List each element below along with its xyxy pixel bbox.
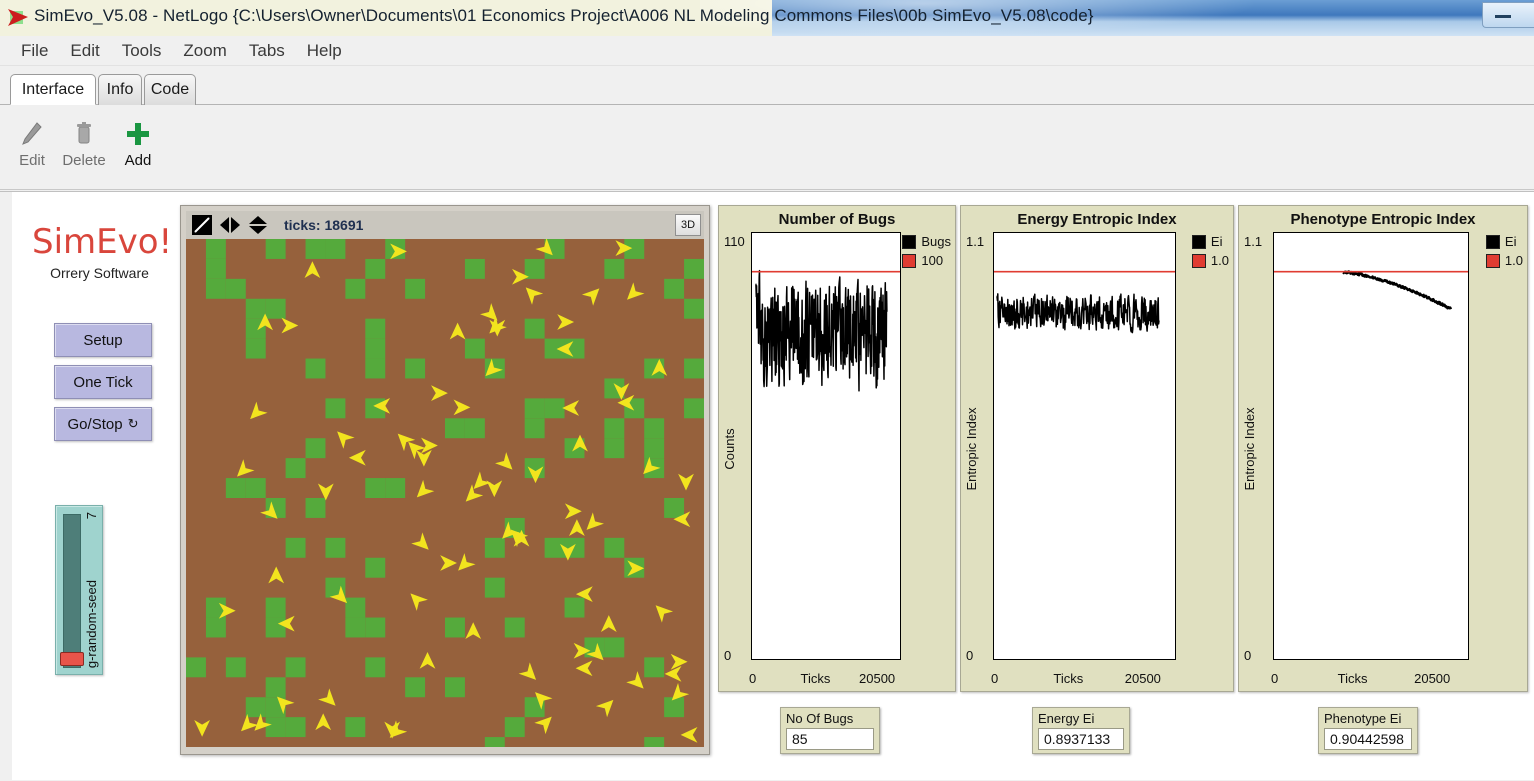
plot-x-min-label: 0: [1271, 671, 1278, 686]
edit-tool-label: Edit: [6, 152, 58, 169]
menu-file[interactable]: File: [10, 39, 59, 63]
monitor-energy-ei[interactable]: Energy Ei 0.8937133: [1032, 707, 1130, 754]
legend-label: Ei: [1505, 234, 1517, 249]
window-title: SimEvo_V5.08 - NetLogo {C:\Users\Owner\D…: [34, 6, 1094, 26]
legend-entry: Ei: [1486, 234, 1523, 249]
menu-tabs[interactable]: Tabs: [238, 39, 296, 63]
setup-button-label: Setup: [83, 332, 122, 349]
tab-info[interactable]: Info: [98, 74, 142, 105]
plot-y-min-label: 0: [1244, 648, 1251, 663]
plot-legend: Ei 1.0: [1192, 234, 1229, 272]
world-view-header: ticks: 18691 3D: [186, 211, 704, 239]
legend-label: Ei: [1211, 234, 1223, 249]
one-tick-button-label: One Tick: [73, 374, 132, 391]
plot-phenotype-entropic-index[interactable]: Phenotype Entropic Index 1.1 0 Entropic …: [1238, 205, 1528, 692]
monitor-no-of-bugs[interactable]: No Of Bugs 85: [780, 707, 880, 754]
plot-title: Phenotype Entropic Index: [1239, 211, 1527, 228]
monitor-label: Phenotype Ei: [1324, 711, 1412, 726]
plot-y-axis-label: Entropic Index: [1242, 407, 1257, 490]
title-bar: SimEvo_V5.08 - NetLogo {C:\Users\Owner\D…: [0, 0, 1534, 36]
tick-counter: ticks: 18691: [284, 217, 363, 233]
monitor-label: No Of Bugs: [786, 711, 874, 726]
vertical-arrows-icon[interactable]: [246, 214, 270, 236]
monitor-label: Energy Ei: [1038, 711, 1124, 726]
canvas-left-gutter: [0, 192, 12, 781]
interface-canvas: SimEvo! Orrery Software Setup One Tick G…: [0, 191, 1534, 780]
delete-tool-label: Delete: [58, 152, 110, 169]
legend-swatch: [902, 235, 916, 249]
random-seed-slider-track: [63, 514, 81, 668]
menu-zoom[interactable]: Zoom: [172, 39, 237, 63]
interface-toolbar: Edit Delete Add abc Butt: [0, 105, 1534, 190]
plot-y-max-label: 1.1: [966, 234, 984, 249]
go-stop-button[interactable]: Go/Stop ↻: [54, 407, 152, 441]
netlogo-logo-icon: [8, 8, 30, 28]
edit-tool-button[interactable]: Edit: [6, 119, 58, 169]
tab-info-label: Info: [107, 81, 134, 99]
plot-y-axis-label: Counts: [722, 428, 737, 469]
legend-swatch: [902, 254, 916, 268]
netlogo-window: SimEvo_V5.08 - NetLogo {C:\Users\Owner\D…: [0, 0, 1534, 780]
plot-y-max-label: 1.1: [1244, 234, 1262, 249]
random-seed-slider-handle[interactable]: [60, 652, 84, 666]
plot-y-max-label: 110: [724, 234, 745, 249]
plot-x-max-label: 20500: [1414, 671, 1450, 686]
horizontal-arrows-icon[interactable]: [218, 214, 242, 236]
plot-x-max-label: 20500: [859, 671, 895, 686]
monitor-value: 85: [786, 728, 874, 750]
minimize-icon[interactable]: [1495, 15, 1511, 18]
legend-entry: 100: [902, 253, 951, 268]
delete-tool-button[interactable]: Delete: [58, 119, 110, 169]
window-controls[interactable]: [1482, 2, 1534, 28]
legend-entry: Ei: [1192, 234, 1229, 249]
tab-code[interactable]: Code: [144, 74, 196, 105]
plus-icon: [112, 119, 164, 149]
monitor-value: 0.90442598: [1324, 728, 1412, 750]
legend-entry: 1.0: [1192, 253, 1229, 268]
one-tick-button[interactable]: One Tick: [54, 365, 152, 399]
monitor-value: 0.8937133: [1038, 728, 1124, 750]
forever-loop-icon: ↻: [128, 416, 139, 432]
split-square-icon[interactable]: [190, 214, 214, 236]
plot-energy-entropic-index[interactable]: Energy Entropic Index 1.1 0 Entropic Ind…: [960, 205, 1234, 692]
pencil-icon: [6, 119, 58, 149]
random-seed-slider[interactable]: g-random-seed 7: [55, 505, 103, 675]
plot-area: [993, 232, 1176, 660]
trash-icon: [58, 119, 110, 149]
brand-subtitle: Orrery Software: [32, 265, 167, 281]
legend-swatch: [1486, 235, 1500, 249]
plot-number-of-bugs[interactable]: Number of Bugs 110 0 Counts Bugs 100 0 T…: [718, 205, 956, 692]
legend-label: Bugs: [921, 234, 951, 249]
legend-entry: Bugs: [902, 234, 951, 249]
go-stop-button-label: Go/Stop: [68, 416, 123, 433]
plot-y-axis-label: Entropic Index: [964, 407, 979, 490]
menu-items: FileEditToolsZoomTabsHelp: [10, 39, 353, 63]
random-seed-slider-value: 7: [84, 512, 99, 519]
plot-y-min-label: 0: [724, 648, 731, 663]
tab-interface-label: Interface: [22, 81, 84, 99]
random-seed-slider-label: g-random-seed: [84, 580, 99, 668]
plot-x-axis-label: Ticks: [1053, 671, 1083, 686]
menu-bar: FileEditToolsZoomTabsHelp: [0, 36, 1534, 66]
plot-title: Energy Entropic Index: [961, 211, 1233, 228]
plot-area: [751, 232, 901, 660]
plot-area: [1273, 232, 1469, 660]
monitor-phenotype-ei[interactable]: Phenotype Ei 0.90442598: [1318, 707, 1418, 754]
add-tool-button[interactable]: Add: [112, 119, 164, 169]
menu-help[interactable]: Help: [296, 39, 353, 63]
legend-label: 1.0: [1211, 253, 1229, 268]
brand-title: SimEvo!: [32, 222, 167, 262]
legend-entry: 1.0: [1486, 253, 1523, 268]
view-3d-label: 3D: [681, 219, 695, 231]
plot-x-max-label: 20500: [1125, 671, 1161, 686]
menu-edit[interactable]: Edit: [59, 39, 110, 63]
menu-tools[interactable]: Tools: [111, 39, 173, 63]
view-3d-button[interactable]: 3D: [675, 214, 701, 236]
plot-x-min-label: 0: [991, 671, 998, 686]
plot-title: Number of Bugs: [719, 211, 955, 228]
legend-swatch: [1486, 254, 1500, 268]
tab-code-label: Code: [151, 81, 189, 99]
legend-swatch: [1192, 254, 1206, 268]
tab-strip: Interface Info Code: [0, 66, 1534, 105]
legend-swatch: [1192, 235, 1206, 249]
add-tool-label: Add: [112, 152, 164, 169]
plot-legend: Bugs 100: [902, 234, 951, 272]
tab-interface[interactable]: Interface: [10, 74, 96, 105]
legend-label: 100: [921, 253, 943, 268]
world-view-panel: ticks: 18691 3D: [180, 205, 710, 755]
plot-x-min-label: 0: [749, 671, 756, 686]
plot-x-axis-label: Ticks: [801, 671, 831, 686]
plot-legend: Ei 1.0: [1486, 234, 1523, 272]
plot-y-min-label: 0: [966, 648, 973, 663]
world-canvas[interactable]: [186, 239, 704, 747]
plot-x-axis-label: Ticks: [1338, 671, 1368, 686]
legend-label: 1.0: [1505, 253, 1523, 268]
setup-button[interactable]: Setup: [54, 323, 152, 357]
